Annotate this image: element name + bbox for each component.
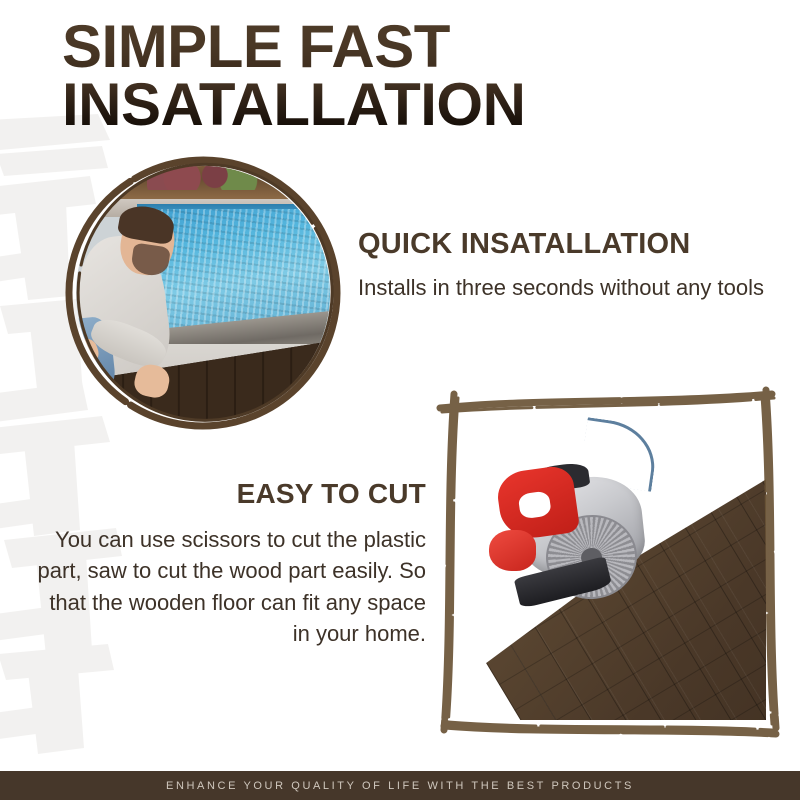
saw-photo — [428, 382, 788, 742]
hand-drawn-circle-ring — [62, 152, 344, 434]
section-quick-installation: QUICK INSATALLATION Installs in three se… — [358, 228, 778, 302]
quick-installation-heading: QUICK INSATALLATION — [358, 228, 778, 261]
footer-banner-text: ENHANCE YOUR QUALITY OF LIFE WITH THE BE… — [166, 780, 634, 792]
footer-banner: ENHANCE YOUR QUALITY OF LIFE WITH THE BE… — [0, 771, 800, 800]
section-easy-to-cut: EASY TO CUT You can use scissors to cut … — [28, 478, 426, 650]
infographic-page: SIMPLE FAST INSATALLATION — [0, 0, 800, 800]
page-title: SIMPLE FAST INSATALLATION — [62, 18, 762, 133]
quick-installation-body: Installs in three seconds without any to… — [358, 273, 778, 302]
headline-line-2: INSATALLATION — [62, 76, 762, 134]
easy-to-cut-body: You can use scissors to cut the plastic … — [28, 524, 426, 650]
installation-photo — [62, 152, 344, 434]
sketch-frame-border — [428, 382, 788, 742]
headline-line-1: SIMPLE FAST — [62, 18, 762, 76]
easy-to-cut-heading: EASY TO CUT — [28, 478, 426, 510]
